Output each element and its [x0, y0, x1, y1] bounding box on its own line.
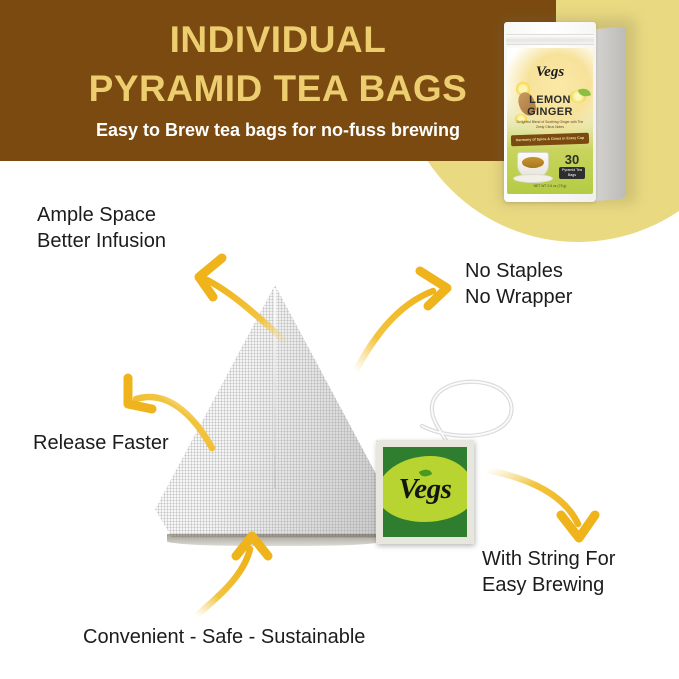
callout-no-staples-line2: No Wrapper	[465, 284, 572, 310]
callout-no-staples-line1: No Staples	[465, 258, 572, 284]
page-title-line1: INDIVIDUAL	[0, 21, 556, 58]
package-front-panel: Vegs LEMON GINGER Delightful Blend of So…	[504, 22, 596, 202]
header-band: INDIVIDUAL PYRAMID TEA BAGS Easy to Brew…	[0, 0, 556, 161]
callout-release-faster: Release Faster	[33, 430, 169, 456]
package-flavor-line1: LEMON	[507, 94, 593, 106]
callout-with-string-line1: With String For	[482, 546, 615, 572]
tea-leaves-fill	[155, 285, 395, 540]
arrow-to-with-string	[487, 470, 595, 538]
callout-ample-space-line1: Ample Space	[37, 202, 166, 228]
callout-ample-space-line2: Better Infusion	[37, 228, 166, 254]
product-package: Vegs LEMON GINGER Delightful Blend of So…	[494, 8, 644, 206]
tea-bag-base-shadow	[167, 534, 383, 546]
package-zipper	[506, 34, 594, 45]
package-label: Vegs LEMON GINGER Delightful Blend of So…	[507, 48, 593, 194]
package-count-label: Pyramid Tea Bags	[559, 167, 585, 179]
pyramid-tea-bag	[155, 285, 395, 550]
callout-release-faster-line1: Release Faster	[33, 430, 169, 456]
callout-with-string: With String For Easy Brewing	[482, 546, 615, 599]
callout-no-staples: No Staples No Wrapper	[465, 258, 572, 311]
page-subtitle: Easy to Brew tea bags for no-fuss brewin…	[0, 120, 556, 141]
page-title-line2: PYRAMID TEA BAGS	[0, 70, 556, 107]
tea-leaves-texture	[151, 437, 399, 534]
tea-saucer-icon	[513, 174, 553, 183]
package-flavor-line2: GINGER	[507, 106, 593, 118]
tag-brand-name: Vegs	[383, 473, 467, 506]
callout-convenient-safe-sustainable: Convenient - Safe - Sustainable	[83, 624, 365, 650]
package-brand-name: Vegs	[507, 64, 593, 81]
tea-bag-tag: Vegs	[376, 440, 474, 544]
callout-with-string-line2: Easy Brewing	[482, 572, 615, 598]
product-infographic: INDIVIDUAL PYRAMID TEA BAGS Easy to Brew…	[0, 0, 679, 679]
tag-inner-panel: Vegs	[383, 447, 467, 537]
callout-convenient-line1: Convenient - Safe - Sustainable	[83, 624, 365, 650]
package-count: 30	[555, 152, 589, 167]
package-description: Delightful Blend of Soothing Ginger with…	[513, 120, 587, 130]
package-tagline-banner: Harmony of Spice & Citrus in Every Cup	[511, 133, 589, 147]
callout-ample-space: Ample Space Better Infusion	[37, 202, 166, 255]
package-net-weight: NET WT 2.6 oz (75 g)	[507, 184, 593, 188]
